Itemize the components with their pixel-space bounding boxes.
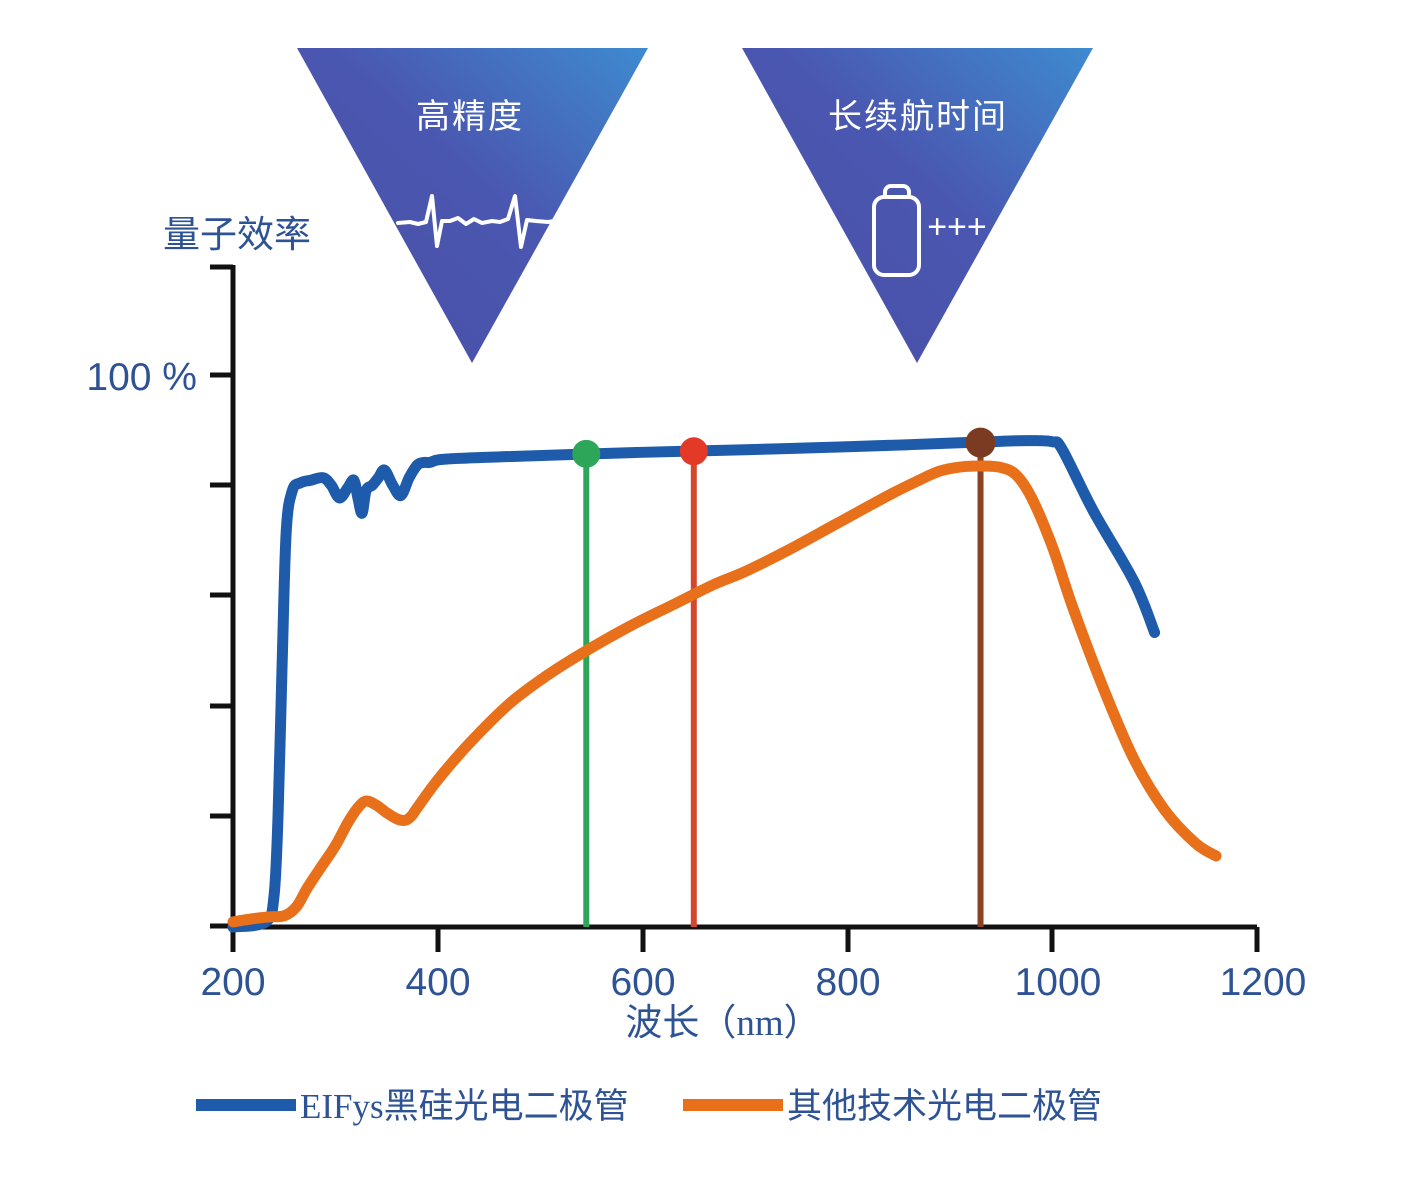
legend: EIFys黑硅光电二极管 其他技术光电二极管 (196, 1087, 1102, 1126)
x-tick-label: 1200 (1220, 961, 1307, 1004)
green-marker[interactable] (572, 440, 600, 468)
legend-label-0: EIFys黑硅光电二极管 (300, 1087, 629, 1126)
x-tick-labels: 200 400 600 800 1000 1200 (200, 961, 1306, 1004)
x-tick-label: 800 (815, 961, 880, 1004)
red-marker[interactable] (680, 437, 708, 465)
series-line-1 (233, 466, 1216, 922)
y-ticks (210, 375, 233, 926)
y-axis-title: 量子效率 (163, 214, 311, 256)
x-axis-title: 波长（nm） (625, 1002, 820, 1044)
marker-lines (586, 443, 980, 927)
legend-label-1: 其他技术光电二极管 (787, 1087, 1102, 1126)
axes (210, 265, 1257, 952)
x-tick-label: 200 (200, 961, 265, 1004)
x-tick-label: 600 (610, 961, 675, 1004)
x-tick-label: 1000 (1015, 961, 1102, 1004)
x-ticks (233, 927, 1257, 952)
x-tick-label: 400 (405, 961, 470, 1004)
y-tick-label-100: 100 % (86, 356, 197, 399)
figure-canvas: 高精度 长续航时间 +++ (0, 0, 1417, 1181)
brown-marker[interactable] (966, 428, 996, 458)
plot-layer: 量子效率 100 % 200 400 600 800 1000 1200 波长（… (0, 0, 1417, 1181)
series-group (233, 441, 1216, 927)
